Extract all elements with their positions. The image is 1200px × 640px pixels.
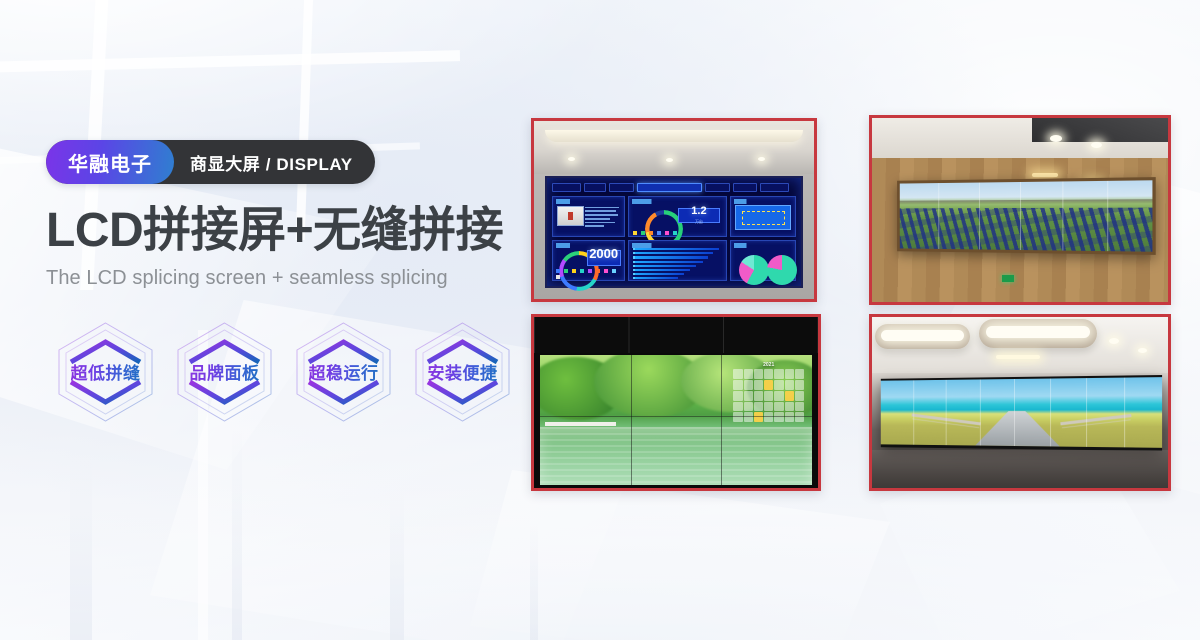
background-light-band xyxy=(232,430,242,640)
photo-solar-farm-video-wall xyxy=(869,115,1171,305)
page-title: LCD拼接屏+无缝拼接 xyxy=(46,206,526,257)
dashboard-card-donut: 1.2 万亩 xyxy=(628,196,727,237)
page-subtitle: The LCD splicing screen + seamless splic… xyxy=(46,267,526,290)
dashboard-card-intro xyxy=(552,196,625,237)
brand-category-tag: 商显大屏 / DISPLAY xyxy=(160,140,375,184)
kpi-value: 1.2 xyxy=(691,206,706,217)
willow-pond-image: 2021 xyxy=(540,355,813,485)
pie-chart xyxy=(767,255,797,285)
video-wall-screen xyxy=(897,177,1156,254)
feature-badge-label: 品牌面板 xyxy=(190,359,260,384)
feature-badge-3: 安装便捷 xyxy=(403,316,522,428)
dashboard-card-flow xyxy=(730,196,796,237)
background-light-band xyxy=(530,520,538,640)
ceiling-cove-light xyxy=(545,130,803,142)
banner-text-column: 华融电子 商显大屏 / DISPLAY LCD拼接屏+无缝拼接 The LCD … xyxy=(46,140,526,428)
feature-badge-2: 超稳运行 xyxy=(284,316,403,428)
photo-dashboard-video-wall: 1.2 万亩 xyxy=(531,118,817,302)
feature-badge-label: 安装便捷 xyxy=(428,359,498,384)
photo-beach-boardwalk-video-wall xyxy=(869,314,1171,491)
dashboard-card-count: 2000 xyxy=(552,240,625,281)
dashboard-screen: 1.2 万亩 xyxy=(545,176,803,288)
pie-chart xyxy=(739,255,769,285)
window-mullion-horizontal xyxy=(0,50,460,73)
product-banner: 华融电子 商显大屏 / DISPLAY LCD拼接屏+无缝拼接 The LCD … xyxy=(0,0,1200,640)
kpi-unit: 万亩 xyxy=(695,219,703,225)
flow-diagram xyxy=(735,205,791,230)
bar-list-chart xyxy=(633,248,722,278)
background-light-band xyxy=(70,460,92,640)
calendar-overlay: 2021 xyxy=(733,362,804,422)
dashboard-card-pies xyxy=(730,240,796,281)
solar-farm-image xyxy=(900,180,1153,251)
feature-badge-1: 品牌面板 xyxy=(165,316,284,428)
product-photo-grid: 1.2 万亩 xyxy=(531,118,1171,490)
dashboard-card-barlist xyxy=(628,240,727,281)
feature-badge-list: 超低拼缝 品牌面板 超稳运行 xyxy=(46,316,526,428)
beach-boardwalk-image xyxy=(881,377,1162,448)
background-light-band xyxy=(390,490,404,640)
feature-badge-label: 超低拼缝 xyxy=(71,359,141,384)
brand-name-chip: 华融电子 xyxy=(46,140,174,184)
video-wall-screen xyxy=(881,375,1162,451)
photo-willow-pond-video-wall: 2021 xyxy=(531,314,821,491)
feature-badge-label: 超稳运行 xyxy=(309,359,379,384)
brand-badge: 华融电子 商显大屏 / DISPLAY xyxy=(46,140,375,184)
exit-sign-icon xyxy=(1002,275,1014,282)
kpi-value: 2000 xyxy=(589,247,618,260)
feature-badge-0: 超低拼缝 xyxy=(46,316,165,428)
